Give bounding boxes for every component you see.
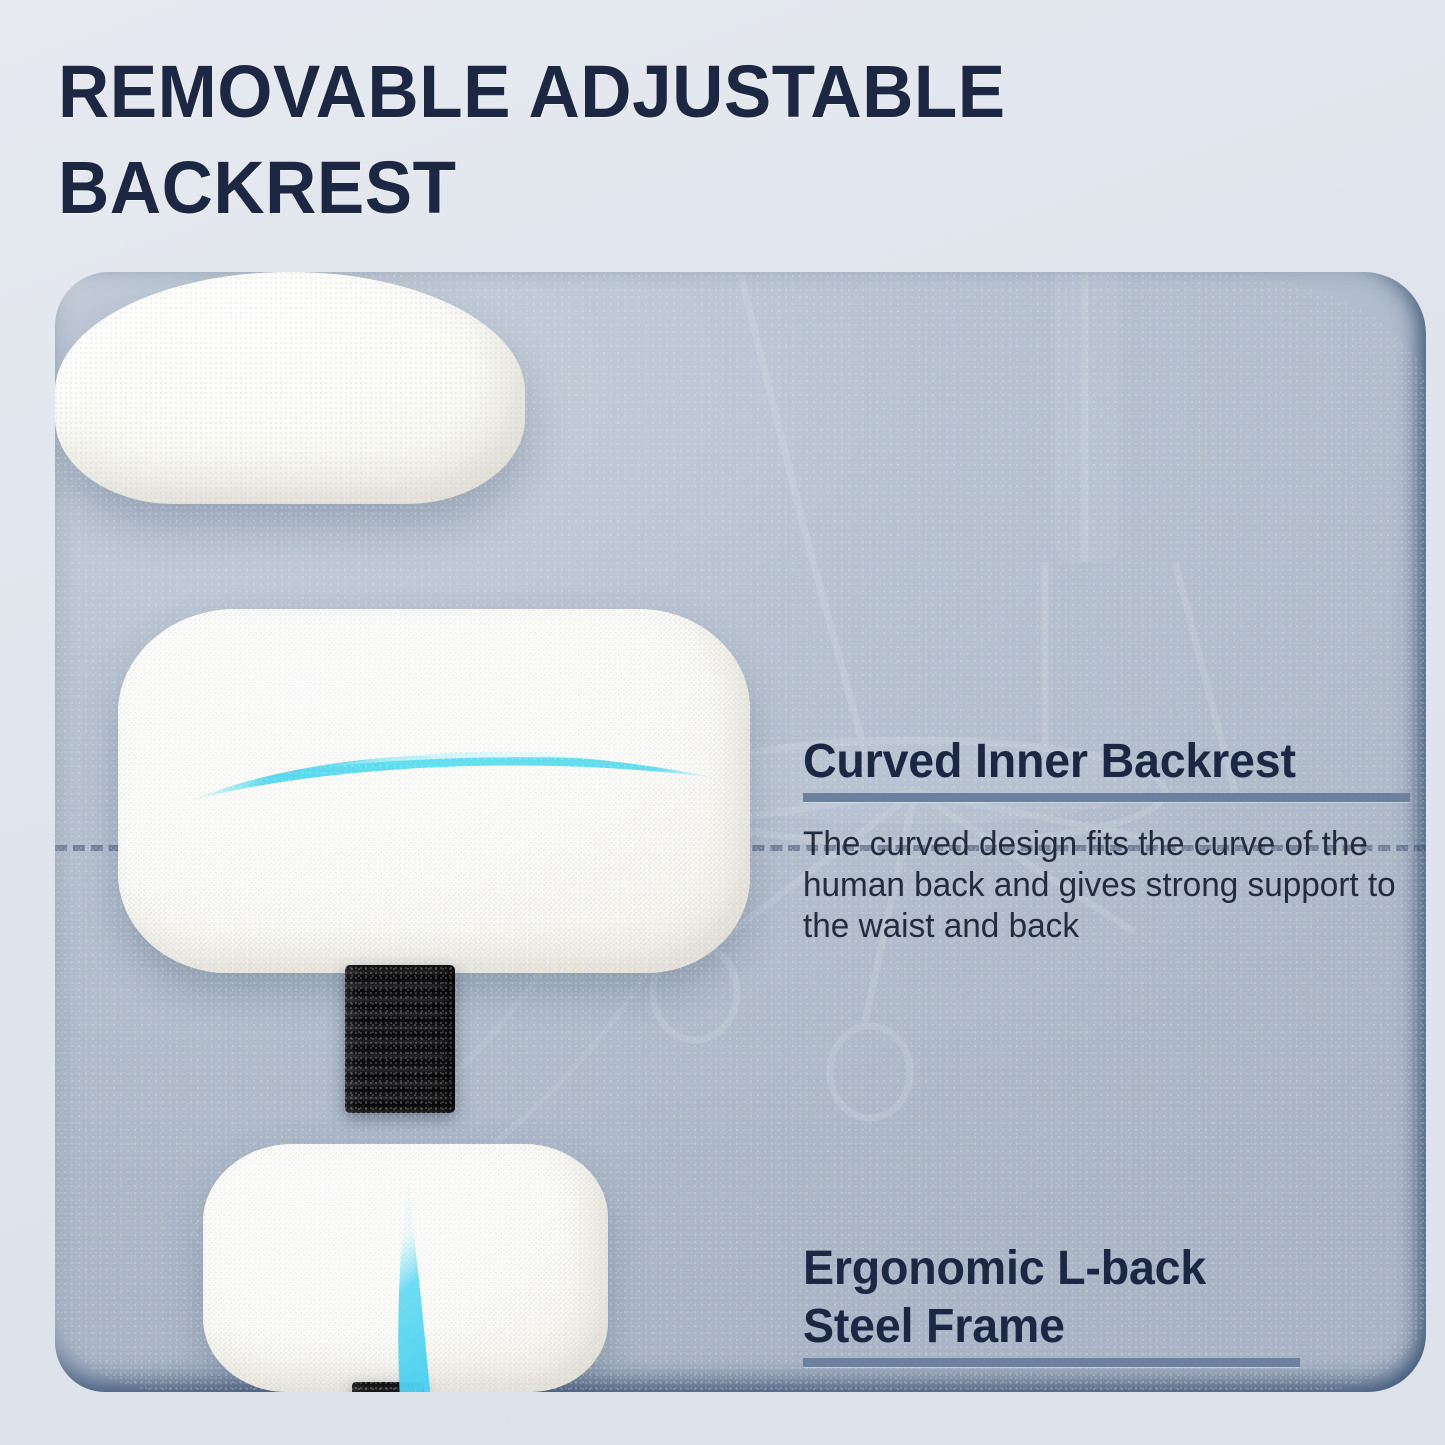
title-line-2: BACKREST bbox=[58, 140, 1191, 236]
feature-2-heading-line-2: Steel Frame bbox=[803, 1298, 1404, 1356]
feature-panel: Curved Inner Backrest The curved design … bbox=[55, 272, 1426, 1392]
lower-backrest-cushion bbox=[203, 1144, 608, 1392]
seat-cushion bbox=[55, 272, 525, 504]
ghost-chair-base-image bbox=[55, 792, 785, 1392]
title-line-1: REMOVABLE ADJUSTABLE bbox=[58, 44, 1191, 140]
leather-grain-texture bbox=[203, 1144, 608, 1392]
feature-2-underline bbox=[803, 1358, 1300, 1367]
feature-block-curved-inner-backrest: Curved Inner Backrest The curved design … bbox=[803, 733, 1423, 947]
feature-1-body: The curved design fits the curve of the … bbox=[803, 824, 1411, 947]
upper-ribbed-stem bbox=[345, 965, 455, 1113]
curved-backrest-accent-arc bbox=[185, 722, 725, 832]
headrest-cushion bbox=[118, 609, 750, 973]
infographic-page: REMOVABLE ADJUSTABLE BACKREST bbox=[0, 0, 1445, 1445]
leather-grain-texture bbox=[118, 609, 750, 973]
page-title: REMOVABLE ADJUSTABLE BACKREST bbox=[58, 44, 1238, 236]
feature-2-heading-line-1: Ergonomic L-back bbox=[803, 1240, 1404, 1298]
feature-1-underline bbox=[803, 793, 1410, 802]
feature-2-body: The thickened steel plate provides stron… bbox=[803, 1389, 1411, 1392]
feature-block-ergonomic-l-back-steel-frame: Ergonomic L-back Steel Frame The thicken… bbox=[803, 1240, 1423, 1392]
feature-1-heading: Curved Inner Backrest bbox=[803, 733, 1404, 791]
lower-ribbed-stem bbox=[352, 1382, 424, 1392]
l-back-frame-accent-curve bbox=[345, 1167, 665, 1392]
